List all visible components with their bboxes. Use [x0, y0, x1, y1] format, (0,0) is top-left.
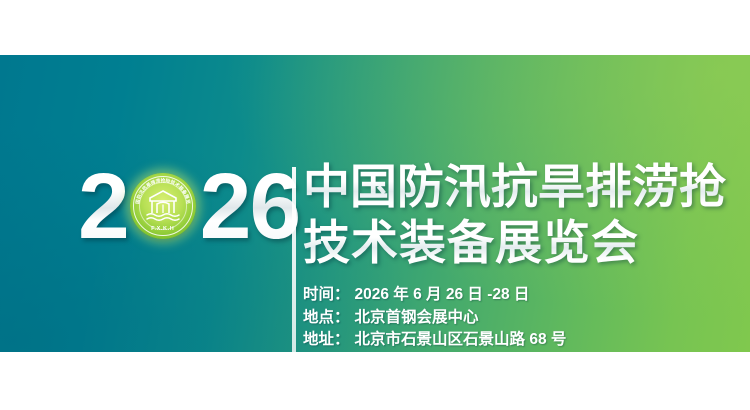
detail-label-venue: 地点： [303, 307, 350, 330]
detail-value-date: 2026 年 6 月 26 日 -28 日 [355, 284, 530, 307]
headline-line-2: 技术装备展览会 [303, 215, 750, 271]
detail-label-address: 地址： [303, 329, 350, 352]
emblem-abbreviation: F.X.K.H [130, 226, 196, 232]
vertical-divider [292, 167, 296, 352]
exhibition-emblem-icon: 中国防汛抗旱排涝抢险技术装备展览会 F.X.K.H [130, 173, 196, 239]
year-digit-2: 2 [78, 160, 128, 252]
headline-line-1: 中国防汛抗旱排涝抢 [303, 159, 750, 215]
banner-page: 2 中国防汛抗旱排涝抢险技术装备展览会 [0, 0, 750, 410]
banner-text-column: 中国防汛抗旱排涝抢 技术装备展览会 时间： 2026 年 6 月 26 日 -2… [303, 159, 750, 352]
detail-row-address: 地址： 北京市石景山区石景山路 68 号 [303, 329, 750, 352]
detail-value-address: 北京市石景山区石景山路 68 号 [355, 329, 567, 352]
dam-and-water-icon [143, 189, 183, 223]
year-digits-26: 26 [200, 160, 299, 252]
detail-label-date: 时间： [303, 284, 350, 307]
event-details: 时间： 2026 年 6 月 26 日 -28 日 地点： 北京首钢会展中心 地… [303, 284, 750, 352]
detail-value-venue: 北京首钢会展中心 [355, 307, 479, 330]
event-banner: 2 中国防汛抗旱排涝抢险技术装备展览会 [0, 55, 750, 352]
detail-row-date: 时间： 2026 年 6 月 26 日 -28 日 [303, 284, 750, 307]
year-logo-block: 2 中国防汛抗旱排涝抢险技术装备展览会 [78, 160, 299, 252]
detail-row-venue: 地点： 北京首钢会展中心 [303, 307, 750, 330]
